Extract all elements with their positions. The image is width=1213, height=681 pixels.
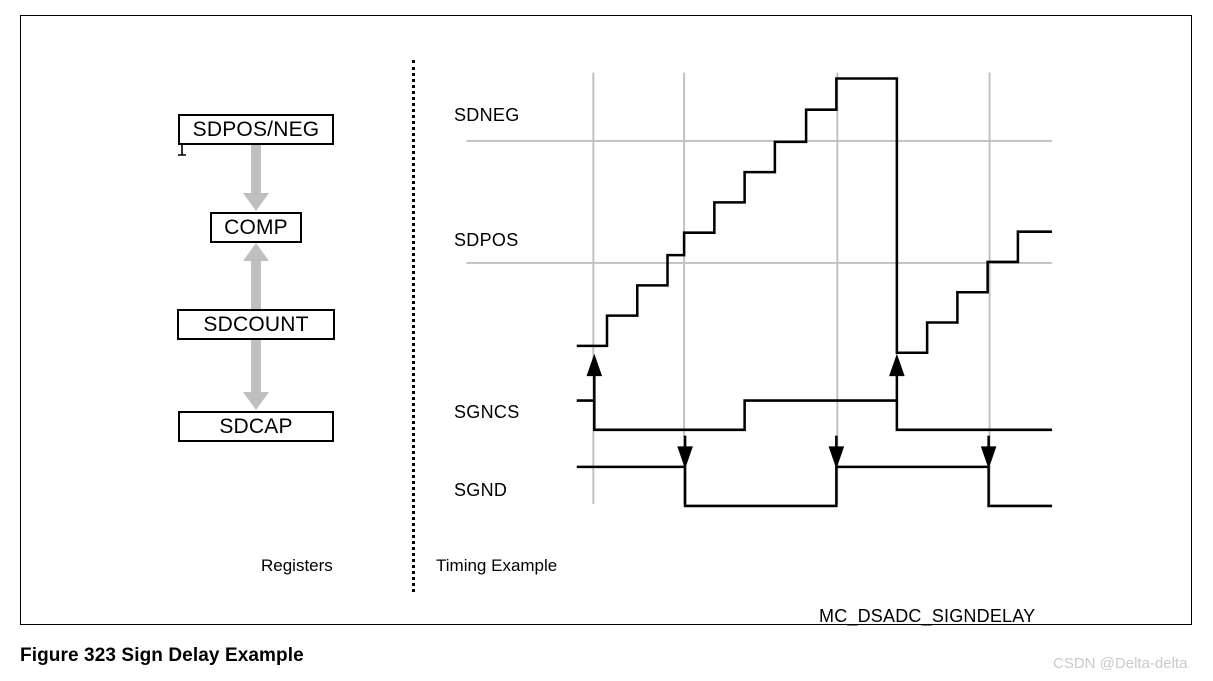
diagram-signal-identifier: MC_DSADC_SIGNDELAY xyxy=(819,606,1035,627)
watermark: CSDN @Delta-delta xyxy=(1053,655,1187,672)
waveform-sdcount-staircase xyxy=(577,78,1052,352)
waveform-sgncs xyxy=(577,401,1052,430)
arrow-up-icon-2 xyxy=(889,354,905,401)
figure-frame: SDPOS/NEG COMP SDCOUNT SDCAP Registers S… xyxy=(20,15,1192,625)
transition-arrows xyxy=(587,354,997,469)
waveform-sgnd xyxy=(577,467,1052,506)
gridlines xyxy=(466,73,1052,504)
timing-waveform-plot xyxy=(21,16,1193,626)
figure-caption: Figure 323 Sign Delay Example xyxy=(20,645,304,667)
arrow-down-icon-3 xyxy=(981,436,997,469)
arrow-down-icon-1 xyxy=(677,436,693,469)
timing-panel-caption: Timing Example xyxy=(436,556,557,576)
arrow-up-icon-1 xyxy=(587,354,603,401)
arrow-down-icon-2 xyxy=(829,436,845,469)
